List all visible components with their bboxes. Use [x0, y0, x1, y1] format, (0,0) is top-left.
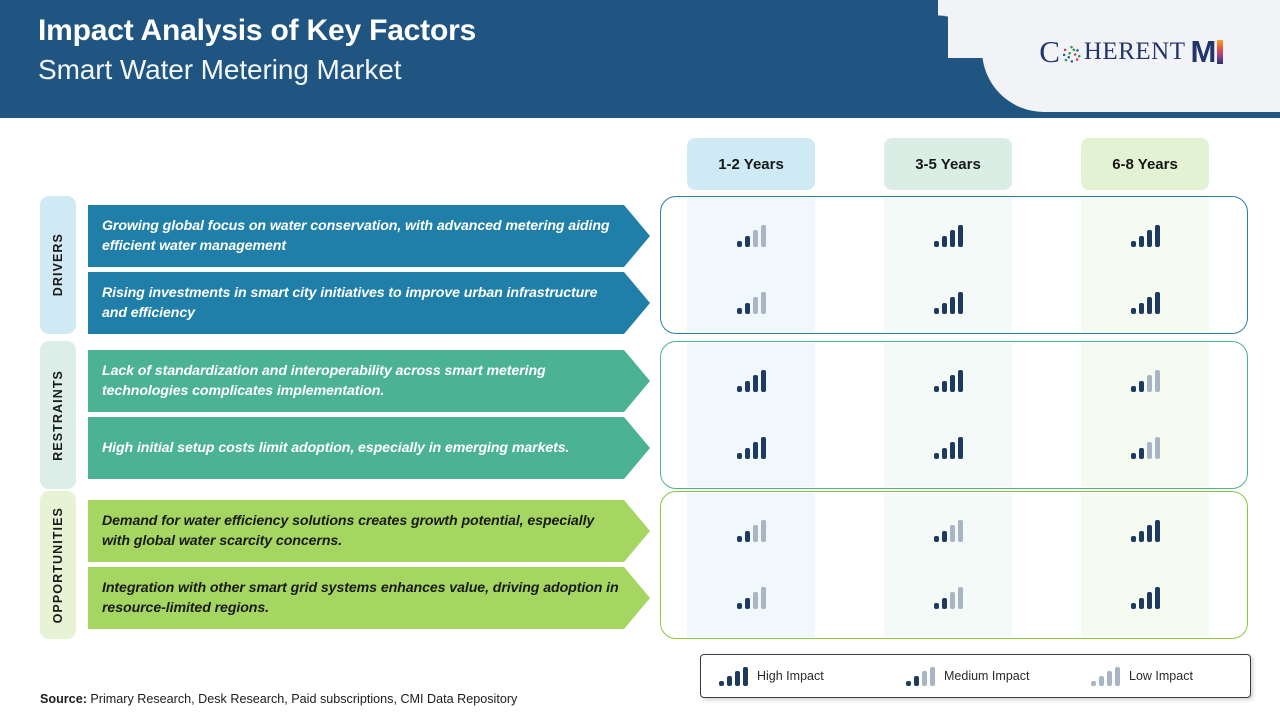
- source-label: Source:: [40, 692, 87, 706]
- impact-bars-icon: [737, 225, 766, 247]
- impact-bar-segment: [1139, 531, 1144, 542]
- impact-bar-segment: [761, 370, 766, 392]
- impact-bar-segment: [1099, 676, 1104, 686]
- impact-bar-segment: [1155, 587, 1160, 609]
- factor-arrow[interactable]: Lack of standardization and interoperabi…: [88, 350, 650, 412]
- impact-bar-segment: [727, 676, 732, 686]
- timeframe-column-headers: 1-2 Years3-5 Years6-8 Years: [0, 138, 1280, 190]
- impact-bar-segment: [1147, 230, 1152, 247]
- legend-bars-icon: [906, 667, 935, 686]
- impact-cell[interactable]: [1081, 350, 1209, 412]
- impact-bar-segment: [942, 381, 947, 392]
- legend: High ImpactMedium ImpactLow Impact: [700, 654, 1251, 698]
- category-tab-label: RESTRAINTS: [51, 370, 65, 461]
- impact-bar-segment: [761, 587, 766, 609]
- impact-bar-segment: [950, 230, 955, 247]
- impact-bars-icon: [1131, 292, 1160, 314]
- category-tab-opportunities[interactable]: OPPORTUNITIES: [40, 491, 76, 639]
- impact-bar-segment: [950, 297, 955, 314]
- factor-text: Demand for water efficiency solutions cr…: [88, 511, 650, 551]
- impact-bar-segment: [1107, 671, 1112, 686]
- impact-bars-icon: [1131, 520, 1160, 542]
- impact-bars-icon: [737, 437, 766, 459]
- impact-bar-segment: [934, 241, 939, 247]
- impact-bar-segment: [761, 520, 766, 542]
- factor-text: Growing global focus on water conservati…: [88, 216, 650, 256]
- factor-arrow[interactable]: Rising investments in smart city initiat…: [88, 272, 650, 334]
- infographic-root: Impact Analysis of Key Factors Smart Wat…: [0, 0, 1280, 720]
- impact-bar-segment: [1139, 598, 1144, 609]
- impact-bar-segment: [743, 667, 748, 686]
- factor-text: Rising investments in smart city initiat…: [88, 283, 650, 323]
- impact-bar-segment: [1147, 525, 1152, 542]
- impact-bars-icon: [934, 225, 963, 247]
- logo-letter-c: C: [1039, 34, 1060, 70]
- impact-bar-segment: [753, 592, 758, 609]
- impact-cell[interactable]: [687, 567, 815, 629]
- impact-bar-segment: [934, 536, 939, 542]
- factor-arrow[interactable]: Demand for water efficiency solutions cr…: [88, 500, 650, 562]
- impact-bar-segment: [719, 681, 724, 686]
- impact-bar-segment: [737, 308, 742, 314]
- impact-bar-segment: [950, 442, 955, 459]
- impact-cell[interactable]: [1081, 500, 1209, 562]
- impact-cell[interactable]: [884, 500, 1012, 562]
- impact-cell[interactable]: [1081, 205, 1209, 267]
- impact-bar-segment: [1131, 603, 1136, 609]
- impact-bar-segment: [950, 375, 955, 392]
- impact-bar-segment: [934, 308, 939, 314]
- impact-bar-segment: [934, 386, 939, 392]
- column-header-label: 6-8 Years: [1112, 156, 1178, 173]
- header-title-block: Impact Analysis of Key Factors Smart Wat…: [38, 12, 476, 89]
- impact-bar-segment: [737, 386, 742, 392]
- impact-bars-icon: [1131, 370, 1160, 392]
- factor-text: Lack of standardization and interoperabi…: [88, 361, 650, 401]
- impact-cell[interactable]: [884, 272, 1012, 334]
- impact-bar-segment: [1139, 303, 1144, 314]
- impact-bar-segment: [950, 592, 955, 609]
- logo-letter-i-bar: [1217, 40, 1223, 64]
- impact-bars-icon: [737, 370, 766, 392]
- brand-logo: C HERENT M: [982, 34, 1280, 70]
- impact-bars-icon: [1131, 225, 1160, 247]
- impact-bar-segment: [914, 676, 919, 686]
- impact-bar-segment: [942, 448, 947, 459]
- impact-bar-segment: [1155, 225, 1160, 247]
- legend-bars-icon: [1091, 667, 1120, 686]
- column-header-label: 1-2 Years: [718, 156, 784, 173]
- impact-bar-segment: [958, 292, 963, 314]
- impact-bar-segment: [922, 671, 927, 686]
- category-tab-drivers[interactable]: DRIVERS: [40, 196, 76, 334]
- impact-bar-segment: [737, 603, 742, 609]
- impact-cell[interactable]: [687, 350, 815, 412]
- impact-bar-segment: [1131, 308, 1136, 314]
- factor-arrow[interactable]: Growing global focus on water conservati…: [88, 205, 650, 267]
- impact-bar-segment: [1115, 667, 1120, 686]
- legend-item: High Impact: [719, 667, 824, 686]
- impact-bar-segment: [753, 230, 758, 247]
- impact-bar-segment: [1131, 536, 1136, 542]
- impact-cell[interactable]: [884, 205, 1012, 267]
- impact-bar-segment: [942, 531, 947, 542]
- impact-bar-segment: [1155, 520, 1160, 542]
- impact-bar-segment: [1139, 448, 1144, 459]
- impact-bar-segment: [745, 381, 750, 392]
- impact-bar-segment: [1147, 297, 1152, 314]
- impact-bar-segment: [906, 681, 911, 686]
- impact-bar-segment: [942, 303, 947, 314]
- impact-bar-segment: [735, 671, 740, 686]
- column-header-1[interactable]: 1-2 Years: [687, 138, 815, 190]
- factor-arrow[interactable]: Integration with other smart grid system…: [88, 567, 650, 629]
- impact-bar-segment: [950, 525, 955, 542]
- impact-cell[interactable]: [884, 350, 1012, 412]
- impact-bar-segment: [745, 531, 750, 542]
- impact-bar-segment: [1131, 386, 1136, 392]
- page-title: Impact Analysis of Key Factors: [38, 12, 476, 50]
- impact-bars-icon: [737, 292, 766, 314]
- impact-bar-segment: [942, 598, 947, 609]
- category-tab-label: OPPORTUNITIES: [51, 507, 65, 623]
- legend-label: High Impact: [757, 669, 824, 683]
- impact-bar-segment: [753, 525, 758, 542]
- factor-text: High initial setup costs limit adoption,…: [88, 438, 599, 458]
- impact-bar-segment: [1131, 453, 1136, 459]
- impact-bar-segment: [1091, 681, 1096, 686]
- impact-cell[interactable]: [1081, 567, 1209, 629]
- column-header-3[interactable]: 6-8 Years: [1081, 138, 1209, 190]
- column-header-2[interactable]: 3-5 Years: [884, 138, 1012, 190]
- impact-cell[interactable]: [884, 417, 1012, 479]
- impact-bar-segment: [1147, 442, 1152, 459]
- impact-bar-segment: [1155, 437, 1160, 459]
- impact-bar-segment: [1147, 592, 1152, 609]
- impact-bar-segment: [753, 375, 758, 392]
- impact-bar-segment: [1155, 370, 1160, 392]
- impact-bar-segment: [761, 225, 766, 247]
- impact-bar-segment: [745, 448, 750, 459]
- impact-bar-segment: [753, 297, 758, 314]
- impact-cell[interactable]: [687, 500, 815, 562]
- impact-bars-icon: [934, 437, 963, 459]
- impact-bar-segment: [745, 303, 750, 314]
- impact-bar-segment: [1147, 375, 1152, 392]
- impact-bar-segment: [737, 536, 742, 542]
- impact-bar-segment: [745, 236, 750, 247]
- impact-bar-segment: [737, 241, 742, 247]
- factor-text: Integration with other smart grid system…: [88, 578, 650, 618]
- impact-bars-icon: [737, 587, 766, 609]
- impact-bar-segment: [1139, 236, 1144, 247]
- impact-bars-icon: [934, 370, 963, 392]
- impact-bar-segment: [1139, 381, 1144, 392]
- impact-bar-segment: [745, 598, 750, 609]
- impact-bar-segment: [958, 520, 963, 542]
- category-tab-label: DRIVERS: [51, 233, 65, 296]
- impact-bars-icon: [1131, 437, 1160, 459]
- logo-plaque: C HERENT M: [982, 0, 1280, 112]
- impact-cell[interactable]: [1081, 417, 1209, 479]
- impact-bar-segment: [753, 442, 758, 459]
- impact-bar-segment: [737, 453, 742, 459]
- page-subtitle: Smart Water Metering Market: [38, 52, 476, 88]
- source-note: Source: Primary Research, Desk Research,…: [40, 692, 517, 706]
- header-banner: Impact Analysis of Key Factors Smart Wat…: [0, 0, 1280, 118]
- impact-bars-icon: [934, 587, 963, 609]
- globe-icon: [1060, 43, 1083, 66]
- legend-label: Medium Impact: [944, 669, 1029, 683]
- impact-bars-icon: [934, 520, 963, 542]
- impact-cell[interactable]: [687, 272, 815, 334]
- source-value: Primary Research, Desk Research, Paid su…: [87, 692, 517, 706]
- impact-bars-icon: [934, 292, 963, 314]
- impact-bar-segment: [958, 587, 963, 609]
- impact-bar-segment: [1131, 241, 1136, 247]
- impact-bar-segment: [958, 225, 963, 247]
- impact-cell[interactable]: [687, 417, 815, 479]
- legend-item: Low Impact: [1091, 667, 1193, 686]
- impact-cell[interactable]: [884, 567, 1012, 629]
- factor-arrow[interactable]: High initial setup costs limit adoption,…: [88, 417, 650, 479]
- legend-item: Medium Impact: [906, 667, 1029, 686]
- category-tab-restraints[interactable]: RESTRAINTS: [40, 341, 76, 489]
- impact-bar-segment: [761, 292, 766, 314]
- impact-bar-segment: [942, 236, 947, 247]
- impact-bar-segment: [761, 437, 766, 459]
- column-header-label: 3-5 Years: [915, 156, 981, 173]
- logo-word-herent: HERENT: [1084, 38, 1186, 66]
- impact-cell[interactable]: [687, 205, 815, 267]
- impact-bar-segment: [1155, 292, 1160, 314]
- impact-bars-icon: [1131, 587, 1160, 609]
- impact-bar-segment: [958, 370, 963, 392]
- legend-bars-icon: [719, 667, 748, 686]
- impact-bar-segment: [934, 453, 939, 459]
- impact-cell[interactable]: [1081, 272, 1209, 334]
- impact-bars-icon: [737, 520, 766, 542]
- impact-bar-segment: [934, 603, 939, 609]
- logo-letter-m: M: [1190, 34, 1215, 70]
- impact-bar-segment: [958, 437, 963, 459]
- impact-bar-segment: [930, 667, 935, 686]
- legend-label: Low Impact: [1129, 669, 1193, 683]
